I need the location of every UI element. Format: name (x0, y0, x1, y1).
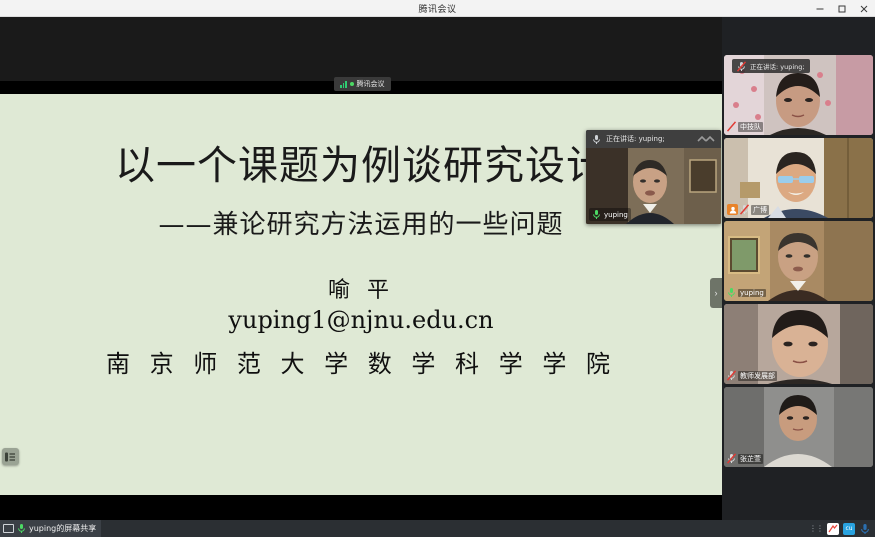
pip-header-label: 正在讲话: yuping; (606, 134, 665, 144)
participant-tile[interactable]: 正在讲话: yuping; 中技队 (724, 55, 873, 135)
stage-letterbox-bottom (0, 495, 722, 520)
signal-bars-icon (340, 81, 347, 88)
sidebar-collapse-handle[interactable]: › (710, 278, 722, 308)
taskbar-tray: ⋮⋮ cu (809, 523, 875, 535)
participant-tile[interactable]: 张芷萱 (724, 387, 873, 467)
list-icon (5, 452, 16, 462)
tencent-meeting-window: 腾讯会议 腾讯会议 以一个课题为例谈研究设计 ——兼论研究方法运用的一些问题 喻 (0, 0, 875, 537)
window-controls (809, 0, 875, 17)
screen-share-icon (3, 524, 14, 533)
tile-name-row: 广博 (727, 204, 769, 215)
mic-muted-icon (727, 370, 736, 381)
tile-name-row: 张芷萱 (727, 453, 763, 464)
host-badge-icon (727, 204, 738, 215)
online-dot (350, 82, 354, 86)
pip-name-label: yuping (604, 211, 628, 219)
windows-taskbar: yuping的屏幕共享 ⋮⋮ cu (0, 520, 875, 537)
tile-name-label: 广博 (751, 205, 769, 215)
participant-tile[interactable]: 教师发展部 (724, 304, 873, 384)
mic-muted-icon (727, 453, 736, 464)
taskbar-item-label: yuping的屏幕共享 (29, 523, 96, 534)
pip-video-feed: yuping (586, 148, 721, 224)
mic-on-icon (592, 134, 601, 145)
meeting-pill-label: 腾讯会议 (357, 79, 385, 89)
taskbar-item-screen-share[interactable]: yuping的屏幕共享 (0, 520, 101, 537)
chevron-collapse-icon[interactable] (697, 135, 715, 143)
participant-tile-active[interactable]: yuping (724, 221, 873, 301)
pip-speaker-video[interactable]: 正在讲话: yuping; (586, 130, 721, 224)
tile-name-row: 教师发展部 (727, 370, 777, 381)
tile-speaking-header: 正在讲话: yuping; (732, 59, 810, 73)
mic-muted-icon (740, 204, 749, 215)
slide-organization: 南 京 师 范 大 学 数 学 科 学 学 院 (0, 344, 722, 379)
tile-name-label: 张芷萱 (738, 454, 763, 464)
tile-speaking-label: 正在讲话: yuping; (750, 61, 805, 71)
tile-name-label: 教师发展部 (738, 371, 777, 381)
mic-tray-icon[interactable] (859, 523, 871, 535)
participant-sidebar: 正在讲话: yuping; 中技队 (722, 17, 875, 520)
meeting-status-pill[interactable]: 腾讯会议 (334, 77, 391, 91)
stage-letterbox-top (0, 17, 722, 81)
window-titlebar: 腾讯会议 (0, 0, 875, 17)
close-button[interactable] (853, 0, 875, 17)
list-icon-button[interactable] (2, 448, 19, 465)
tile-name-label: yuping (738, 289, 766, 297)
tile-name-label: 中技队 (738, 122, 763, 132)
tile-name-row: yuping (727, 287, 766, 298)
mic-on-icon (727, 287, 736, 298)
excel-icon[interactable] (827, 523, 839, 535)
pip-header: 正在讲话: yuping; (586, 130, 721, 148)
mic-on-icon (17, 523, 26, 534)
pip-participant-name: yuping (589, 208, 631, 221)
slide-email: yuping1@njnu.edu.cn (0, 306, 722, 334)
shared-screen-stage: 腾讯会议 以一个课题为例谈研究设计 ——兼论研究方法运用的一些问题 喻 平 yu… (0, 17, 722, 520)
tray-overflow-icon[interactable]: ⋮⋮ (809, 525, 823, 533)
maximize-button[interactable] (831, 0, 853, 17)
tile-name-row: 中技队 (727, 121, 763, 132)
cu-icon[interactable]: cu (843, 523, 855, 535)
minimize-button[interactable] (809, 0, 831, 17)
mic-on-icon (592, 209, 601, 220)
participant-tile[interactable]: 广博 (724, 138, 873, 218)
window-title: 腾讯会议 (418, 2, 456, 15)
mic-muted-icon (727, 121, 736, 132)
mic-muted-icon (737, 61, 746, 72)
slide-author: 喻 平 (0, 272, 722, 304)
